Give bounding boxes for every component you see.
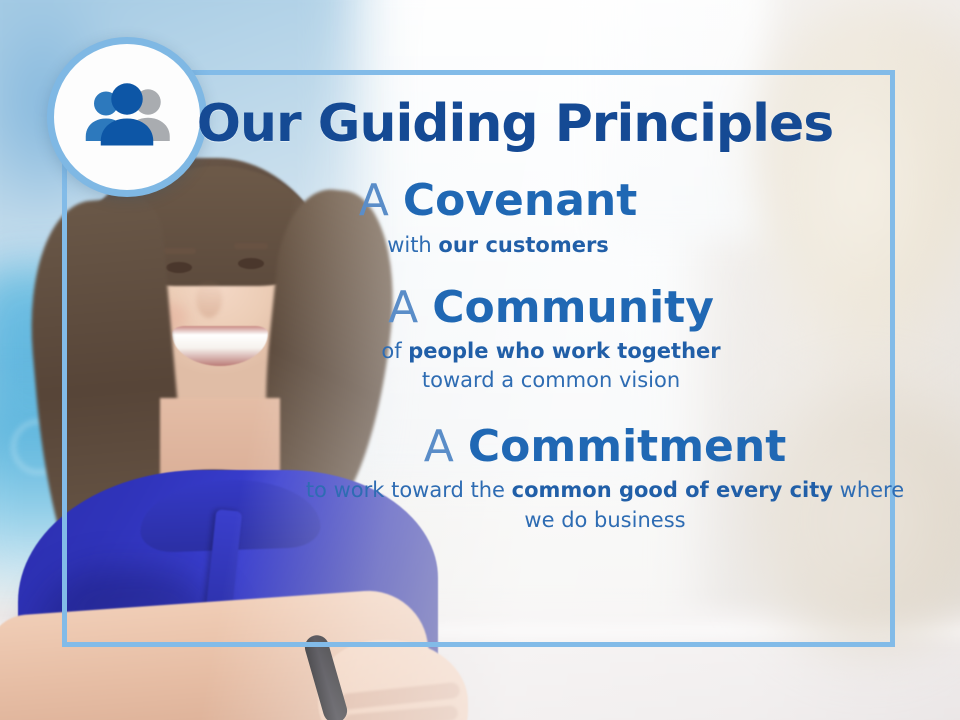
principle-community: A Community of people who work together …	[0, 285, 960, 394]
principle-subtext-prefix: of	[381, 339, 408, 363]
principle-article: A	[388, 282, 418, 333]
principle-subtext-prefix: to work toward the	[306, 478, 512, 502]
principle-headline: A Covenant	[36, 178, 960, 225]
principle-subtext-suffix: where	[833, 478, 904, 502]
principle-subtext: with our customers	[36, 231, 960, 259]
principle-subtext-prefix: with	[387, 233, 438, 257]
principle-subtext-emphasis: our customers	[438, 233, 608, 257]
principle-subtext-emphasis: people who work together	[408, 339, 720, 363]
principle-article: A	[424, 421, 454, 472]
principle-keyword: Community	[432, 282, 714, 333]
page-title: Our Guiding Principles	[0, 94, 960, 154]
principle-covenant: A Covenant with our customers	[0, 178, 960, 259]
principle-subtext: to work toward the common good of every …	[250, 476, 960, 536]
principle-subtext-emphasis: common good of every city	[512, 478, 833, 502]
principle-headline: A Community	[142, 285, 960, 332]
principle-keyword: Covenant	[403, 175, 637, 226]
principle-subtext-line2: we do business	[524, 508, 685, 532]
principle-article: A	[359, 175, 389, 226]
principle-commitment: A Commitment to work toward the common g…	[0, 424, 960, 536]
principles-list: A Covenant with our customers A Communit…	[0, 178, 960, 542]
principle-subtext-line2: toward a common vision	[422, 368, 680, 392]
principle-subtext: of people who work together toward a com…	[142, 337, 960, 393]
principle-headline: A Commitment	[250, 424, 960, 471]
principle-keyword: Commitment	[468, 421, 786, 472]
guiding-principles-banner: FLOW FLOW AUTOMOTIVE	[0, 0, 960, 720]
